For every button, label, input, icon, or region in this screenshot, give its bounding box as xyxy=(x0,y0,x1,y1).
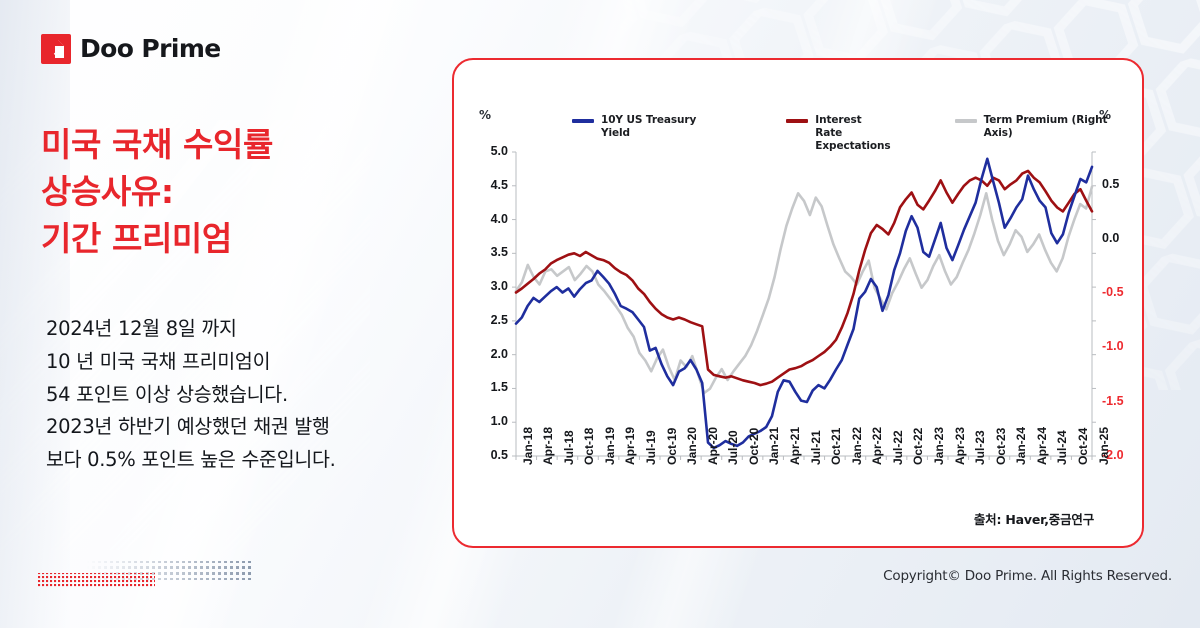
x-axis-tick: Oct-23 xyxy=(994,428,1008,465)
brand-logo[interactable]: Doo Prime xyxy=(41,34,221,64)
x-axis-tick: Jan-24 xyxy=(1014,427,1028,465)
left-axis-tick: 1.0 xyxy=(474,414,508,428)
x-axis-tick: Jul-23 xyxy=(973,430,987,465)
x-axis-tick: Jan-22 xyxy=(850,427,864,465)
x-axis-tick: Jan-23 xyxy=(932,427,946,465)
body-line-1: 2024년 12월 8일 까지 xyxy=(46,313,446,346)
x-axis-tick: Apr-18 xyxy=(541,427,555,465)
x-axis-tick: Jul-21 xyxy=(809,430,823,465)
right-axis-tick: -0.5 xyxy=(1102,285,1136,299)
x-axis-tick: Jan-25 xyxy=(1097,427,1111,465)
page-title: 미국 국채 수익률 상승사유: 기간 프리미엄 xyxy=(41,122,421,263)
x-axis-tick: Jan-19 xyxy=(603,427,617,465)
x-axis-tick: Oct-24 xyxy=(1076,428,1090,465)
x-axis-tick: Jul-18 xyxy=(562,430,576,465)
chart-plot-area: % % 10Y US Treasury YieldInterest Rate E… xyxy=(454,60,1142,546)
body-line-5: 보다 0.5% 포인트 높은 수준입니다. xyxy=(46,444,446,477)
x-axis-tick: Jul-20 xyxy=(726,430,740,465)
chart-card: % % 10Y US Treasury YieldInterest Rate E… xyxy=(452,58,1144,548)
body-paragraph: 2024년 12월 8일 까지 10 년 미국 국채 프리미엄이 54 포인트 … xyxy=(46,313,446,477)
right-axis-tick: 0.0 xyxy=(1102,231,1136,245)
left-axis-tick: 0.5 xyxy=(474,448,508,462)
page-title-line-2: 상승사유: xyxy=(41,169,421,216)
x-axis-tick: Oct-21 xyxy=(829,428,843,465)
body-line-4: 2023년 하반기 예상했던 채권 발행 xyxy=(46,411,446,444)
right-axis-tick: -1.5 xyxy=(1102,394,1136,408)
halftone-dots-decoration xyxy=(38,560,253,592)
left-axis-tick: 2.5 xyxy=(474,313,508,327)
page-title-line-1: 미국 국채 수익률 xyxy=(41,122,421,169)
x-axis-tick: Oct-22 xyxy=(911,428,925,465)
x-axis-tick: Jan-20 xyxy=(685,427,699,465)
left-axis-tick: 3.5 xyxy=(474,245,508,259)
x-axis-tick: Apr-20 xyxy=(706,427,720,465)
body-line-3: 54 포인트 이상 상승했습니다. xyxy=(46,379,446,412)
left-axis-tick: 3.0 xyxy=(474,279,508,293)
left-axis-tick: 2.0 xyxy=(474,347,508,361)
left-axis-tick: 5.0 xyxy=(474,144,508,158)
x-axis-tick: Jul-22 xyxy=(891,430,905,465)
left-axis-tick: 4.0 xyxy=(474,212,508,226)
doo-prime-logo-icon xyxy=(41,34,71,64)
left-axis-tick: 4.5 xyxy=(474,178,508,192)
series-line xyxy=(516,187,1092,393)
body-line-2: 10 년 미국 국채 프리미엄이 xyxy=(46,346,446,379)
x-axis-tick: Oct-19 xyxy=(665,428,679,465)
copyright-notice: Copyright© Doo Prime. All Rights Reserve… xyxy=(883,568,1172,584)
chart-lines xyxy=(454,60,1146,550)
x-axis-tick: Jan-18 xyxy=(521,427,535,465)
x-axis-tick: Oct-18 xyxy=(582,428,596,465)
page-title-line-3: 기간 프리미엄 xyxy=(41,216,421,263)
x-axis-tick: Apr-23 xyxy=(953,427,967,465)
x-axis-tick: Apr-21 xyxy=(788,427,802,465)
right-axis-tick: 0.5 xyxy=(1102,177,1136,191)
x-axis-tick: Oct-20 xyxy=(747,428,761,465)
x-axis-tick: Jul-19 xyxy=(644,430,658,465)
x-axis-tick: Apr-19 xyxy=(623,427,637,465)
left-axis-tick: 1.5 xyxy=(474,380,508,394)
x-axis-tick: Jul-24 xyxy=(1055,430,1069,465)
right-axis-tick: -1.0 xyxy=(1102,339,1136,353)
x-axis-tick: Apr-24 xyxy=(1035,427,1049,465)
brand-name: Doo Prime xyxy=(80,34,221,64)
x-axis-tick: Jan-21 xyxy=(767,427,781,465)
chart-source-note: 출처: Haver,중금연구 xyxy=(974,509,1094,528)
x-axis-tick: Apr-22 xyxy=(870,427,884,465)
